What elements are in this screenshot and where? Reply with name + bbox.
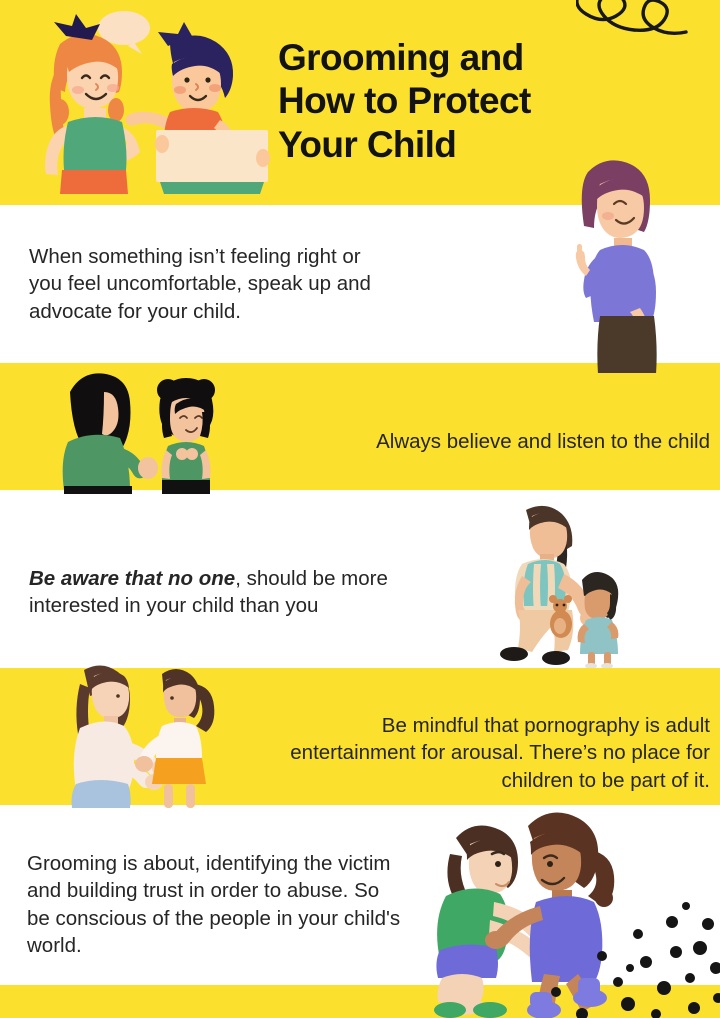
- section-1-text: When something isn’t feeling right or yo…: [29, 243, 399, 325]
- two-children-reaching-illustration: [432, 802, 720, 1018]
- section-4-text: Be mindful that pornography is adult ent…: [262, 712, 710, 794]
- section-3-emphasis: Be aware that no one: [29, 567, 235, 590]
- section-3-text: Be aware that no one, should be more int…: [29, 565, 404, 620]
- woman-giving-teddy-bear-illustration: [484, 502, 629, 668]
- two-children-talking-illustration: [10, 8, 270, 208]
- infographic-poster: Grooming and How to Protect Your Child W…: [0, 0, 720, 1018]
- woman-kneeling-with-girl-illustration: [70, 664, 218, 808]
- woman-pointing-up-illustration: [552, 158, 677, 373]
- woman-talking-to-girl-illustration: [56, 368, 236, 494]
- section-2-text: Always believe and listen to the child: [250, 428, 710, 455]
- section-5-text: Grooming is about, identifying the victi…: [27, 850, 407, 959]
- page-title: Grooming and How to Protect Your Child: [278, 36, 678, 166]
